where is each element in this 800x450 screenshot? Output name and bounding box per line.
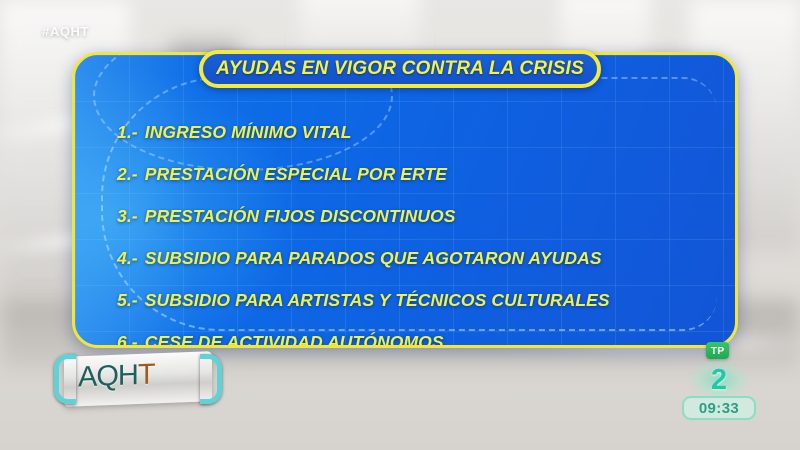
list-item: 6.- CESE DE ACTIVIDAD AUTÓNOMOS [117, 321, 715, 348]
logo-wordmark: AQHT [78, 359, 155, 395]
program-logo: AQHT [48, 346, 228, 412]
logo-bracket-left-icon [54, 354, 76, 404]
list-item-number: 5.- [117, 290, 138, 311]
list-item-number: 3.- [117, 206, 138, 227]
on-screen-clock: 09:33 [682, 396, 756, 420]
logo-bracket-right-icon [200, 354, 222, 404]
page-title: AYUDAS EN VIGOR CONTRA LA CRISIS [216, 58, 584, 80]
channel-number-logo: 2 [688, 360, 750, 400]
info-panel: 1.- INGRESO MÍNIMO VITAL 2.- PRESTACIÓN … [72, 52, 738, 348]
channel-bug: TP 2 09:33 [682, 342, 766, 428]
hashtag-overlay: #AQHT [42, 24, 89, 39]
clock-time: 09:33 [699, 400, 739, 417]
list-item-label: PRESTACIÓN ESPECIAL POR ERTE [145, 164, 447, 185]
list-item: 3.- PRESTACIÓN FIJOS DISCONTINUOS [117, 195, 715, 237]
list-item-number: 1.- [117, 122, 138, 143]
list-item: 4.- SUBSIDIO PARA PARADOS QUE AGOTARON A… [117, 237, 715, 279]
list-item: 2.- PRESTACIÓN ESPECIAL POR ERTE [117, 153, 715, 195]
logo-wordmark-accent: T [138, 359, 155, 392]
list-item-label: INGRESO MÍNIMO VITAL [145, 122, 352, 143]
list-item: 5.- SUBSIDIO PARA ARTISTAS Y TÉCNICOS CU… [117, 279, 715, 321]
list-item-number: 2.- [117, 164, 138, 185]
list-item-label: SUBSIDIO PARA ARTISTAS Y TÉCNICOS CULTUR… [145, 290, 610, 311]
aid-measures-list: 1.- INGRESO MÍNIMO VITAL 2.- PRESTACIÓN … [117, 111, 715, 348]
rating-badge-tp: TP [706, 342, 729, 359]
list-item: 1.- INGRESO MÍNIMO VITAL [117, 111, 715, 153]
channel-number-text: 2 [711, 364, 727, 397]
list-item-label: SUBSIDIO PARA PARADOS QUE AGOTARON AYUDA… [145, 248, 602, 269]
panel-title-banner: AYUDAS EN VIGOR CONTRA LA CRISIS [199, 50, 601, 88]
list-item-number: 4.- [117, 248, 138, 269]
list-item-label: PRESTACIÓN FIJOS DISCONTINUOS [145, 206, 456, 227]
